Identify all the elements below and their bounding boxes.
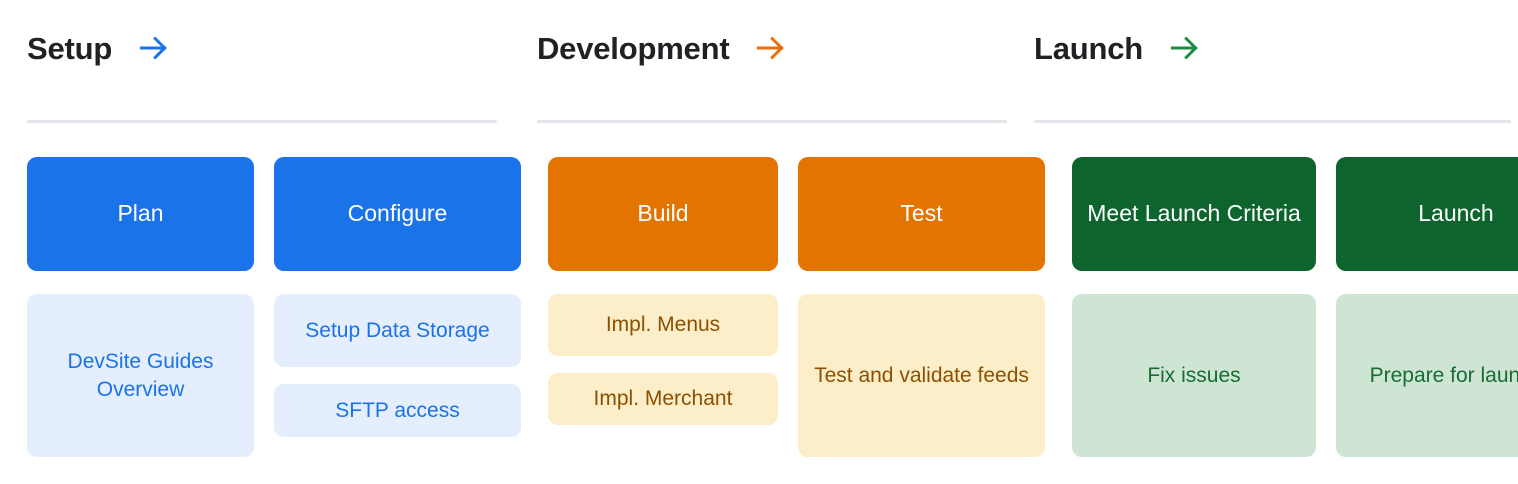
stage-card-meet-launch-criteria[interactable]: Meet Launch Criteria (1072, 157, 1316, 271)
phase-header-row: SetupDevelopmentLaunch (0, 0, 1518, 128)
task-card[interactable]: Impl. Merchant (548, 373, 778, 425)
task-card[interactable]: Test and validate feeds (798, 294, 1045, 457)
task-card-group: Setup Data StorageSFTP access (274, 294, 521, 437)
card-column-row: PlanDevSite Guides OverviewConfigureSetu… (0, 157, 1518, 457)
card-column-meet-launch-criteria: Meet Launch CriteriaFix issues (1072, 157, 1316, 457)
card-column-plan: PlanDevSite Guides Overview (27, 157, 254, 457)
card-column-configure: ConfigureSetup Data StorageSFTP access (274, 157, 521, 457)
task-card[interactable]: Impl. Menus (548, 294, 778, 356)
task-card[interactable]: Setup Data Storage (274, 294, 521, 367)
phase-divider (1034, 120, 1511, 123)
phase-header-content: Development (510, 0, 1007, 96)
stage-card-plan[interactable]: Plan (27, 157, 254, 271)
phase-header-content: Setup (0, 0, 510, 96)
arrow-right-icon (753, 31, 787, 65)
task-card[interactable]: SFTP access (274, 384, 521, 437)
task-card[interactable]: Fix issues (1072, 294, 1316, 457)
stage-card-test[interactable]: Test (798, 157, 1045, 271)
phase-title: Development (537, 33, 729, 64)
card-column-test: TestTest and validate feeds (798, 157, 1045, 457)
card-column-launch: LaunchPrepare for launch (1336, 157, 1518, 457)
task-card[interactable]: DevSite Guides Overview (27, 294, 254, 457)
phase-divider (537, 120, 1007, 123)
task-card-group: DevSite Guides Overview (27, 294, 254, 457)
task-card-group: Impl. MenusImpl. Merchant (548, 294, 778, 425)
phase-header-setup: Setup (0, 0, 510, 128)
phase-title: Setup (27, 33, 112, 64)
card-column-build: BuildImpl. MenusImpl. Merchant (548, 157, 778, 457)
stage-card-configure[interactable]: Configure (274, 157, 521, 271)
arrow-right-icon (136, 31, 170, 65)
task-card-group: Fix issues (1072, 294, 1316, 457)
task-card[interactable]: Prepare for launch (1336, 294, 1518, 457)
phase-header-launch: Launch (1007, 0, 1518, 128)
phase-header-content: Launch (1007, 0, 1518, 96)
task-card-group: Test and validate feeds (798, 294, 1045, 457)
stage-card-build[interactable]: Build (548, 157, 778, 271)
phase-header-development: Development (510, 0, 1007, 128)
stage-card-launch[interactable]: Launch (1336, 157, 1518, 271)
phase-divider (27, 120, 497, 123)
arrow-right-icon (1167, 31, 1201, 65)
task-card-group: Prepare for launch (1336, 294, 1518, 457)
phase-title: Launch (1034, 33, 1143, 64)
roadmap-board: SetupDevelopmentLaunch PlanDevSite Guide… (0, 0, 1518, 484)
